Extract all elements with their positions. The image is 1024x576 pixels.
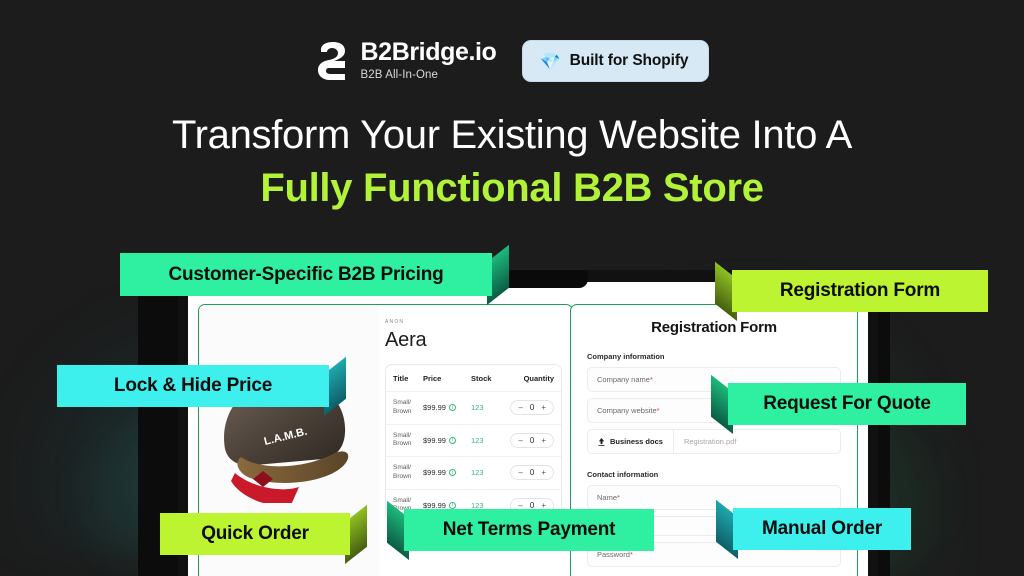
cell-stock: 123 (471, 403, 509, 412)
column-header-quantity: Quantity (509, 365, 554, 391)
cell-price: $99.99 i (423, 468, 471, 477)
info-icon[interactable]: i (449, 502, 456, 509)
company-website-label: Company website (597, 406, 657, 415)
required-marker: * (650, 375, 653, 384)
required-marker: * (617, 493, 620, 502)
required-marker: * (630, 550, 633, 559)
brand-text: B2Bridge.io B2B All-In-One (361, 40, 497, 82)
badge-face: Registration Form (732, 270, 988, 312)
uploaded-file-name: Registration.pdf (674, 430, 747, 453)
headline-line-2: Fully Functional B2B Store (0, 165, 1024, 212)
business-docs-upload[interactable]: Business docs Registration.pdf (587, 429, 841, 454)
brand-name: B2Bridge.io (361, 40, 497, 65)
brand-lockup: B2Bridge.io B2B All-In-One (315, 40, 497, 82)
badge-label: Lock & Hide Price (114, 375, 272, 397)
product-title: Aera (385, 329, 562, 352)
feature-badge-request-for-quote[interactable]: Request For Quote (728, 383, 966, 425)
badge-label: Request For Quote (763, 393, 931, 415)
table-row: Small/ Brown $99.99 i 123 – (386, 424, 561, 457)
built-for-shopify-label: Built for Shopify (570, 52, 689, 70)
contact-name-label: Name (597, 493, 617, 502)
feature-badge-net-terms-payment[interactable]: Net Terms Payment (404, 509, 654, 551)
stepper-value: 0 (530, 468, 534, 477)
column-header-stock: Stock (471, 365, 509, 391)
badge-label: Customer-Specific B2B Pricing (168, 264, 443, 286)
stepper-value: 0 (530, 436, 534, 445)
section-label-contact: Contact information (587, 470, 841, 479)
feature-badge-lock-hide-price[interactable]: Lock & Hide Price (57, 365, 329, 407)
feature-badge-manual-order[interactable]: Manual Order (733, 508, 911, 550)
built-for-shopify-badge[interactable]: 💎 Built for Shopify (522, 40, 709, 82)
quantity-stepper[interactable]: – 0 + (510, 465, 554, 480)
badge-face: Lock & Hide Price (57, 365, 329, 407)
cell-quantity: – 0 + (509, 465, 554, 480)
variant-table: Title Price Stock Quantity Small/ Brown … (385, 364, 562, 522)
badge-label: Registration Form (780, 280, 940, 302)
upload-icon (598, 438, 605, 446)
cell-variant: Small/ Brown (393, 399, 423, 417)
badge-face: Request For Quote (728, 383, 966, 425)
column-header-title: Title (393, 365, 423, 391)
cell-stock: 123 (471, 468, 509, 477)
column-header-price: Price (423, 365, 471, 391)
feature-badge-customer-pricing[interactable]: Customer-Specific B2B Pricing (120, 253, 492, 296)
company-name-label: Company name (597, 375, 650, 384)
badge-label: Manual Order (762, 518, 882, 540)
cell-variant: Small/ Brown (393, 464, 423, 482)
cell-variant: Small/ Brown (393, 432, 423, 450)
price-value: $99.99 (423, 436, 446, 445)
registration-form-title: Registration Form (587, 319, 841, 336)
table-body: Small/ Brown $99.99 i 123 – (386, 391, 561, 521)
feature-badge-quick-order[interactable]: Quick Order (160, 513, 350, 555)
stepper-decrement[interactable]: – (518, 403, 522, 412)
stepper-increment[interactable]: + (541, 436, 546, 445)
badge-label: Quick Order (201, 523, 309, 545)
info-icon[interactable]: i (449, 437, 456, 444)
price-value: $99.99 (423, 403, 446, 412)
badge-face: Quick Order (160, 513, 350, 555)
stepper-increment[interactable]: + (541, 468, 546, 477)
brand-tagline: B2B All-In-One (361, 70, 497, 82)
cell-stock: 123 (471, 436, 509, 445)
info-icon[interactable]: i (449, 469, 456, 476)
hero-banner: B2Bridge.io B2B All-In-One 💎 Built for S… (0, 0, 1024, 576)
table-header-row: Title Price Stock Quantity (386, 365, 561, 391)
upload-button-label: Business docs (610, 437, 663, 446)
header: B2Bridge.io B2B All-In-One 💎 Built for S… (0, 40, 1024, 82)
stepper-decrement[interactable]: – (518, 468, 522, 477)
product-brand-eyebrow: ANON (385, 319, 562, 325)
table-row: Small/ Brown $99.99 i 123 – (386, 456, 561, 489)
section-label-company: Company information (587, 352, 841, 361)
contact-name-field[interactable]: Name* (587, 485, 841, 510)
info-icon[interactable]: i (449, 404, 456, 411)
cell-quantity: – 0 + (509, 433, 554, 448)
cell-price: $99.99 i (423, 403, 471, 412)
badge-label: Net Terms Payment (443, 519, 616, 541)
upload-button[interactable]: Business docs (588, 430, 674, 453)
hero-headline: Transform Your Existing Website Into A F… (0, 112, 1024, 212)
stepper-increment[interactable]: + (541, 403, 546, 412)
price-value: $99.99 (423, 468, 446, 477)
badge-face: Customer-Specific B2B Pricing (120, 253, 492, 296)
password-label: Password (597, 550, 630, 559)
cell-quantity: – 0 + (509, 400, 554, 415)
quantity-stepper[interactable]: – 0 + (510, 433, 554, 448)
feature-badge-registration-form[interactable]: Registration Form (732, 270, 988, 312)
table-row: Small/ Brown $99.99 i 123 – (386, 391, 561, 424)
headline-line-1: Transform Your Existing Website Into A (0, 112, 1024, 159)
cell-price: $99.99 i (423, 436, 471, 445)
quantity-stepper[interactable]: – 0 + (510, 400, 554, 415)
diamond-icon: 💎 (539, 53, 560, 70)
stepper-decrement[interactable]: – (518, 436, 522, 445)
b2bridge-logo-mark (315, 40, 349, 82)
badge-face: Net Terms Payment (404, 509, 654, 551)
badge-face: Manual Order (733, 508, 911, 550)
stepper-value: 0 (530, 403, 534, 412)
required-marker: * (657, 406, 660, 415)
